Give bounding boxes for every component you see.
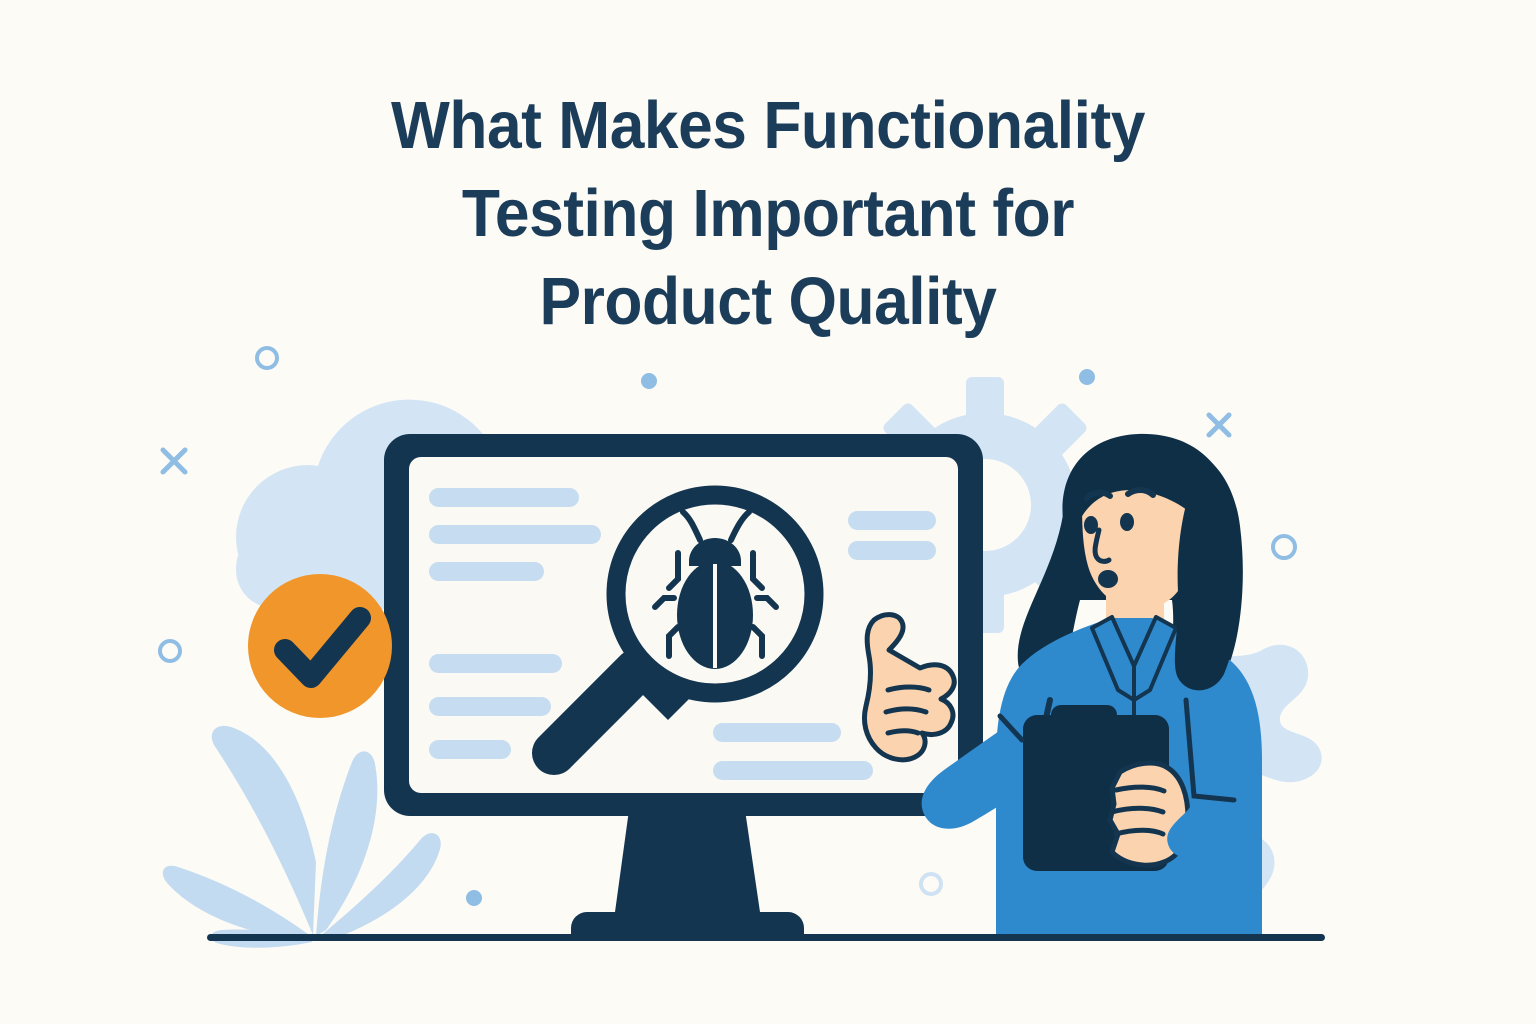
dot-marker	[466, 890, 482, 906]
text-line	[848, 511, 936, 530]
eye-right	[1120, 513, 1134, 531]
text-line	[429, 525, 601, 544]
text-line	[429, 740, 511, 759]
illustration-artwork	[0, 0, 1536, 1024]
mouth	[1098, 570, 1118, 588]
check-badge[interactable]	[248, 574, 392, 718]
dot-marker	[641, 373, 657, 389]
text-line	[429, 488, 579, 507]
eye-left	[1084, 516, 1098, 534]
text-line	[429, 654, 562, 673]
ring-marker	[1273, 536, 1295, 558]
text-line	[429, 697, 551, 716]
check-badge-circle	[248, 574, 392, 718]
text-line	[713, 723, 841, 742]
ground-line	[207, 934, 1325, 941]
text-line	[848, 541, 936, 560]
cross-marker	[1209, 415, 1229, 435]
ring-marker	[160, 641, 180, 661]
text-line	[713, 761, 873, 780]
ring-marker	[921, 874, 941, 894]
monitor-stand	[571, 810, 804, 938]
ring-marker	[257, 348, 277, 368]
poster-canvas: What Makes Functionality Testing Importa…	[0, 0, 1536, 1024]
text-line	[429, 562, 544, 581]
dot-marker	[1079, 369, 1095, 385]
cross-marker	[163, 450, 185, 472]
